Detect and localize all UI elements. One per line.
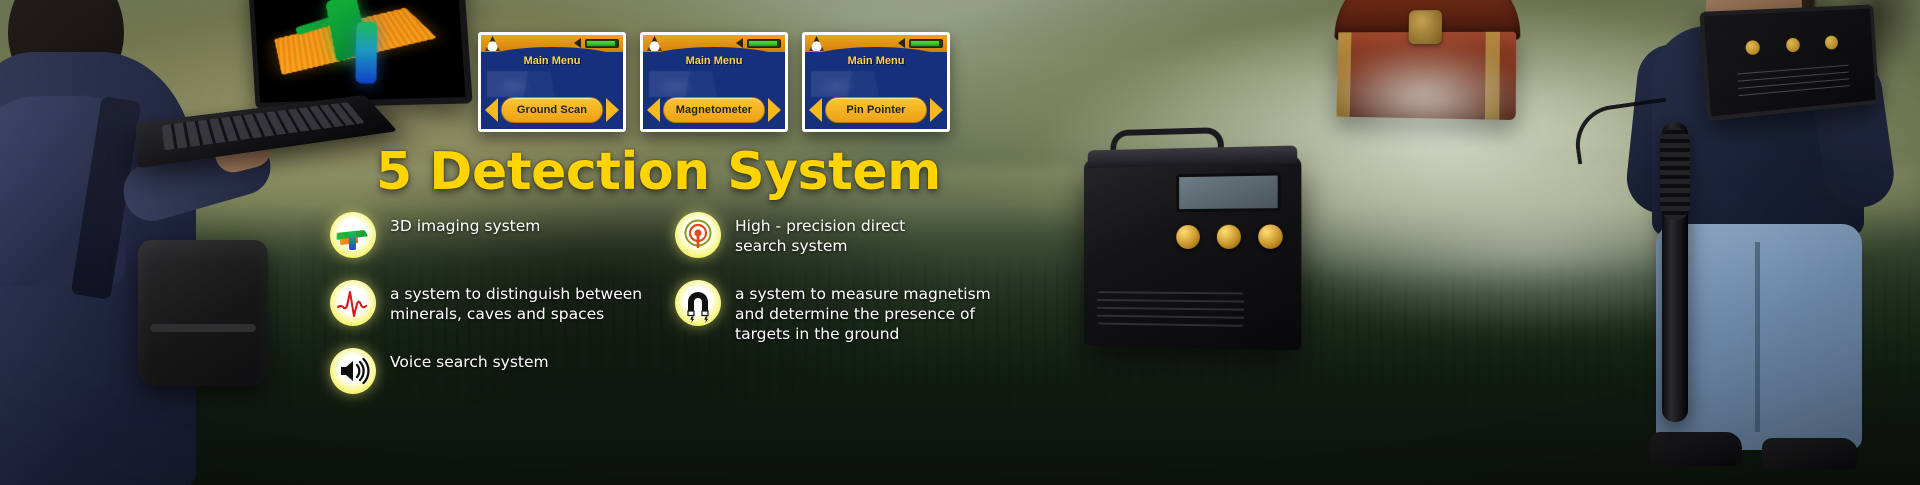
speaker-sound-icon — [330, 348, 376, 394]
feature-line-3: targets in the ground — [735, 325, 991, 345]
arrow-left-icon[interactable] — [485, 98, 498, 122]
feature-text: Voice search system — [390, 348, 549, 373]
feature-item-voice-search: Voice search system — [330, 348, 660, 394]
feature-line-1: Voice search system — [390, 353, 549, 373]
menu-background-art — [649, 71, 779, 97]
menu-card-ground-scan[interactable]: Main Menu Ground Scan — [478, 32, 626, 132]
signal-antenna-icon — [675, 212, 721, 258]
battery-icon — [909, 39, 943, 48]
device-menu-cards: Main Menu Ground Scan Main Menu Magnetom… — [478, 32, 950, 132]
menu-option-button[interactable]: Magnetometer — [663, 97, 765, 123]
feature-item-magnetism: a system to measure magnetism and determ… — [675, 280, 1025, 344]
arrow-right-icon[interactable] — [606, 98, 619, 122]
battery-icon — [747, 39, 781, 48]
arrow-left-icon[interactable] — [647, 98, 660, 122]
mountain-logo-icon — [485, 36, 500, 51]
menu-card-magnetometer[interactable]: Main Menu Magnetometer — [640, 32, 788, 132]
arrow-left-icon[interactable] — [809, 98, 822, 122]
feature-text: a system to distinguish between minerals… — [390, 280, 642, 325]
menu-status-bar — [643, 35, 785, 52]
horseshoe-magnet-icon — [675, 280, 721, 326]
menu-background-art — [487, 71, 617, 97]
menu-selector-row: Pin Pointer — [805, 96, 947, 124]
page-title: 5 Detection System — [376, 142, 941, 202]
feature-line-2: and determine the presence of — [735, 305, 991, 325]
menu-title: Main Menu — [643, 55, 785, 67]
signal-antenna-glyph — [675, 212, 721, 258]
arrow-right-icon[interactable] — [930, 98, 943, 122]
feature-line-1: a system to distinguish between — [390, 285, 642, 305]
waveform-pulse-icon — [330, 280, 376, 326]
feature-line-1: a system to measure magnetism — [735, 285, 991, 305]
menu-card-pin-pointer[interactable]: Main Menu Pin Pointer — [802, 32, 950, 132]
menu-status-bar — [805, 35, 947, 52]
horseshoe-magnet-glyph — [675, 280, 721, 326]
mountain-logo-icon — [809, 36, 824, 51]
speaker-sound-glyph — [330, 348, 376, 394]
menu-title: Main Menu — [481, 55, 623, 67]
feature-text: a system to measure magnetism and determ… — [735, 280, 991, 344]
feature-column-left: 3D imaging system a system to distinguis… — [330, 212, 660, 416]
feature-column-right: High - precision direct search system a … — [675, 212, 1025, 366]
promo-banner: Main Menu Ground Scan Main Menu Magnetom… — [0, 0, 1920, 485]
menu-option-button[interactable]: Pin Pointer — [825, 97, 927, 123]
mountain-logo-icon — [647, 36, 662, 51]
feature-item-mineral-discrimination: a system to distinguish between minerals… — [330, 280, 660, 326]
menu-title: Main Menu — [805, 55, 947, 67]
speaker-icon — [898, 38, 905, 48]
speaker-icon — [574, 38, 581, 48]
arrow-right-icon[interactable] — [768, 98, 781, 122]
3d-terrain-icon — [330, 212, 376, 258]
feature-line-2: minerals, caves and spaces — [390, 305, 642, 325]
feature-line-1: 3D imaging system — [390, 217, 540, 237]
menu-option-button[interactable]: Ground Scan — [501, 97, 603, 123]
feature-line-1: High - precision direct — [735, 217, 905, 237]
battery-icon — [585, 39, 619, 48]
waveform-pulse-glyph — [330, 280, 376, 326]
feature-line-2: search system — [735, 237, 905, 257]
feature-item-3d-imaging: 3D imaging system — [330, 212, 660, 258]
feature-text: 3D imaging system — [390, 212, 540, 237]
feature-item-high-precision: High - precision direct search system — [675, 212, 1025, 258]
menu-status-bar — [481, 35, 623, 52]
menu-background-art — [811, 71, 941, 97]
menu-selector-row: Ground Scan — [481, 96, 623, 124]
menu-selector-row: Magnetometer — [643, 96, 785, 124]
feature-text: High - precision direct search system — [735, 212, 905, 257]
speaker-icon — [736, 38, 743, 48]
